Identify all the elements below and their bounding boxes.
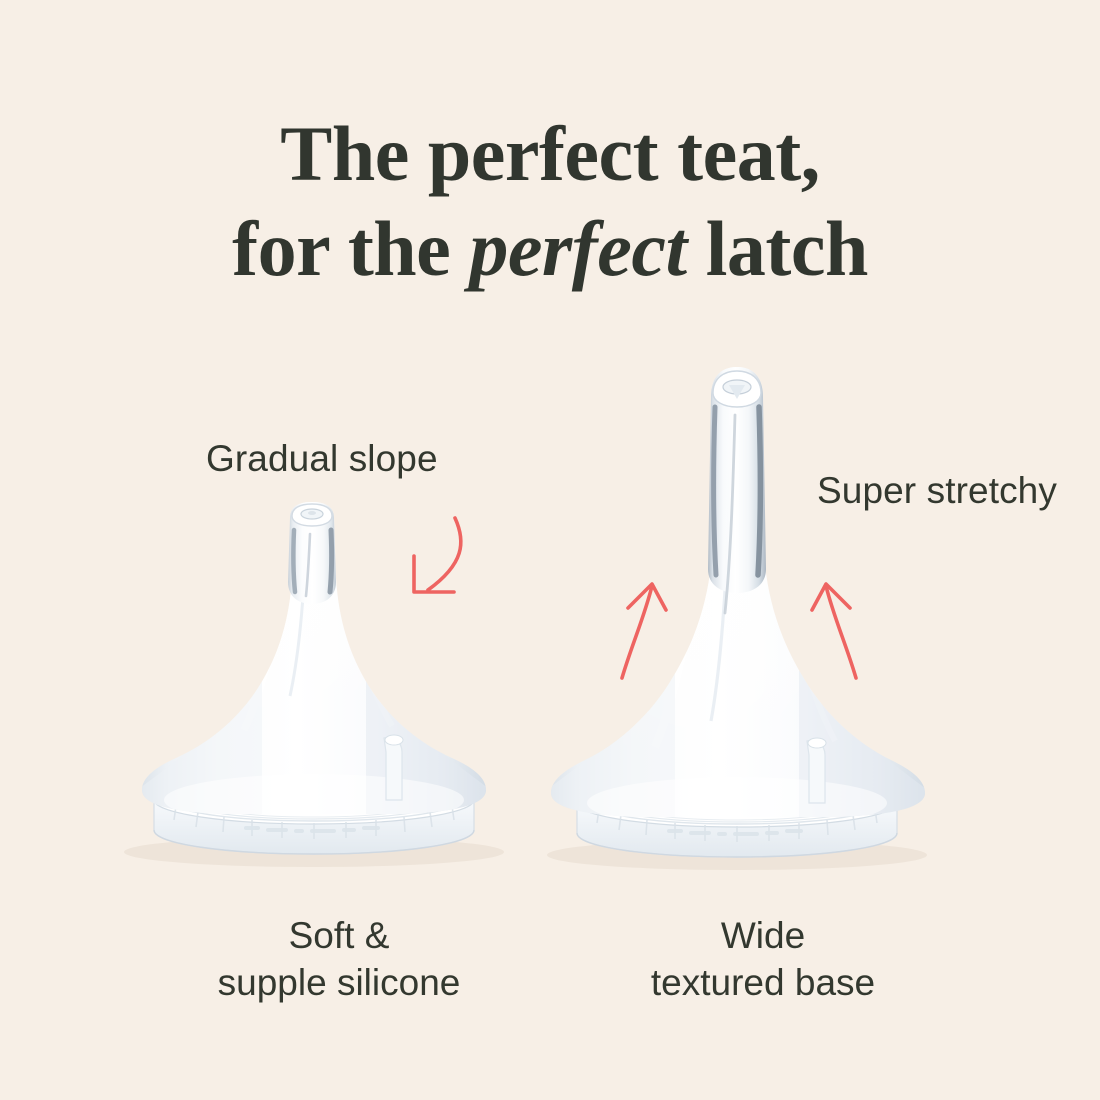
callout-super-stretchy-line-2: stretchy bbox=[927, 470, 1057, 511]
promo-canvas: The perfect teat, for the perfect latch bbox=[0, 0, 1100, 1100]
product-image-left-teat bbox=[140, 500, 540, 880]
caption-left-line-2: supple silicone bbox=[94, 959, 584, 1006]
callout-super-stretchy-line-1: Super bbox=[817, 470, 916, 511]
headline-line-2: for the perfect latch bbox=[0, 201, 1100, 296]
headline-emphasis: perfect bbox=[469, 205, 686, 292]
teat-nipple-tip bbox=[288, 502, 336, 604]
caption-right-line-2: textured base bbox=[518, 959, 1008, 1006]
caption-right-teat: Wide textured base bbox=[518, 912, 1008, 1007]
caption-left-line-1: Soft & bbox=[94, 912, 584, 959]
headline-line-2-after: latch bbox=[687, 205, 868, 292]
caption-left-teat: Soft & supple silicone bbox=[94, 912, 584, 1007]
page-title: The perfect teat, for the perfect latch bbox=[0, 106, 1100, 296]
anti-colic-vent bbox=[384, 735, 403, 800]
curved-arrow-up-right-icon bbox=[800, 572, 860, 682]
teat-nipple-tip-stretched bbox=[708, 367, 766, 613]
curved-arrow-up-left-icon bbox=[618, 572, 678, 682]
curved-arrow-down-left-icon bbox=[392, 516, 472, 606]
caption-right-line-1: Wide bbox=[518, 912, 1008, 959]
callout-super-stretchy: Super stretchy bbox=[817, 468, 983, 513]
callout-gradual-slope: Gradual slope bbox=[206, 436, 438, 481]
anti-colic-vent bbox=[807, 738, 826, 803]
product-image-right-teat bbox=[545, 355, 945, 880]
headline-line-2-before: for the bbox=[232, 205, 469, 292]
headline-line-1: The perfect teat, bbox=[0, 106, 1100, 201]
